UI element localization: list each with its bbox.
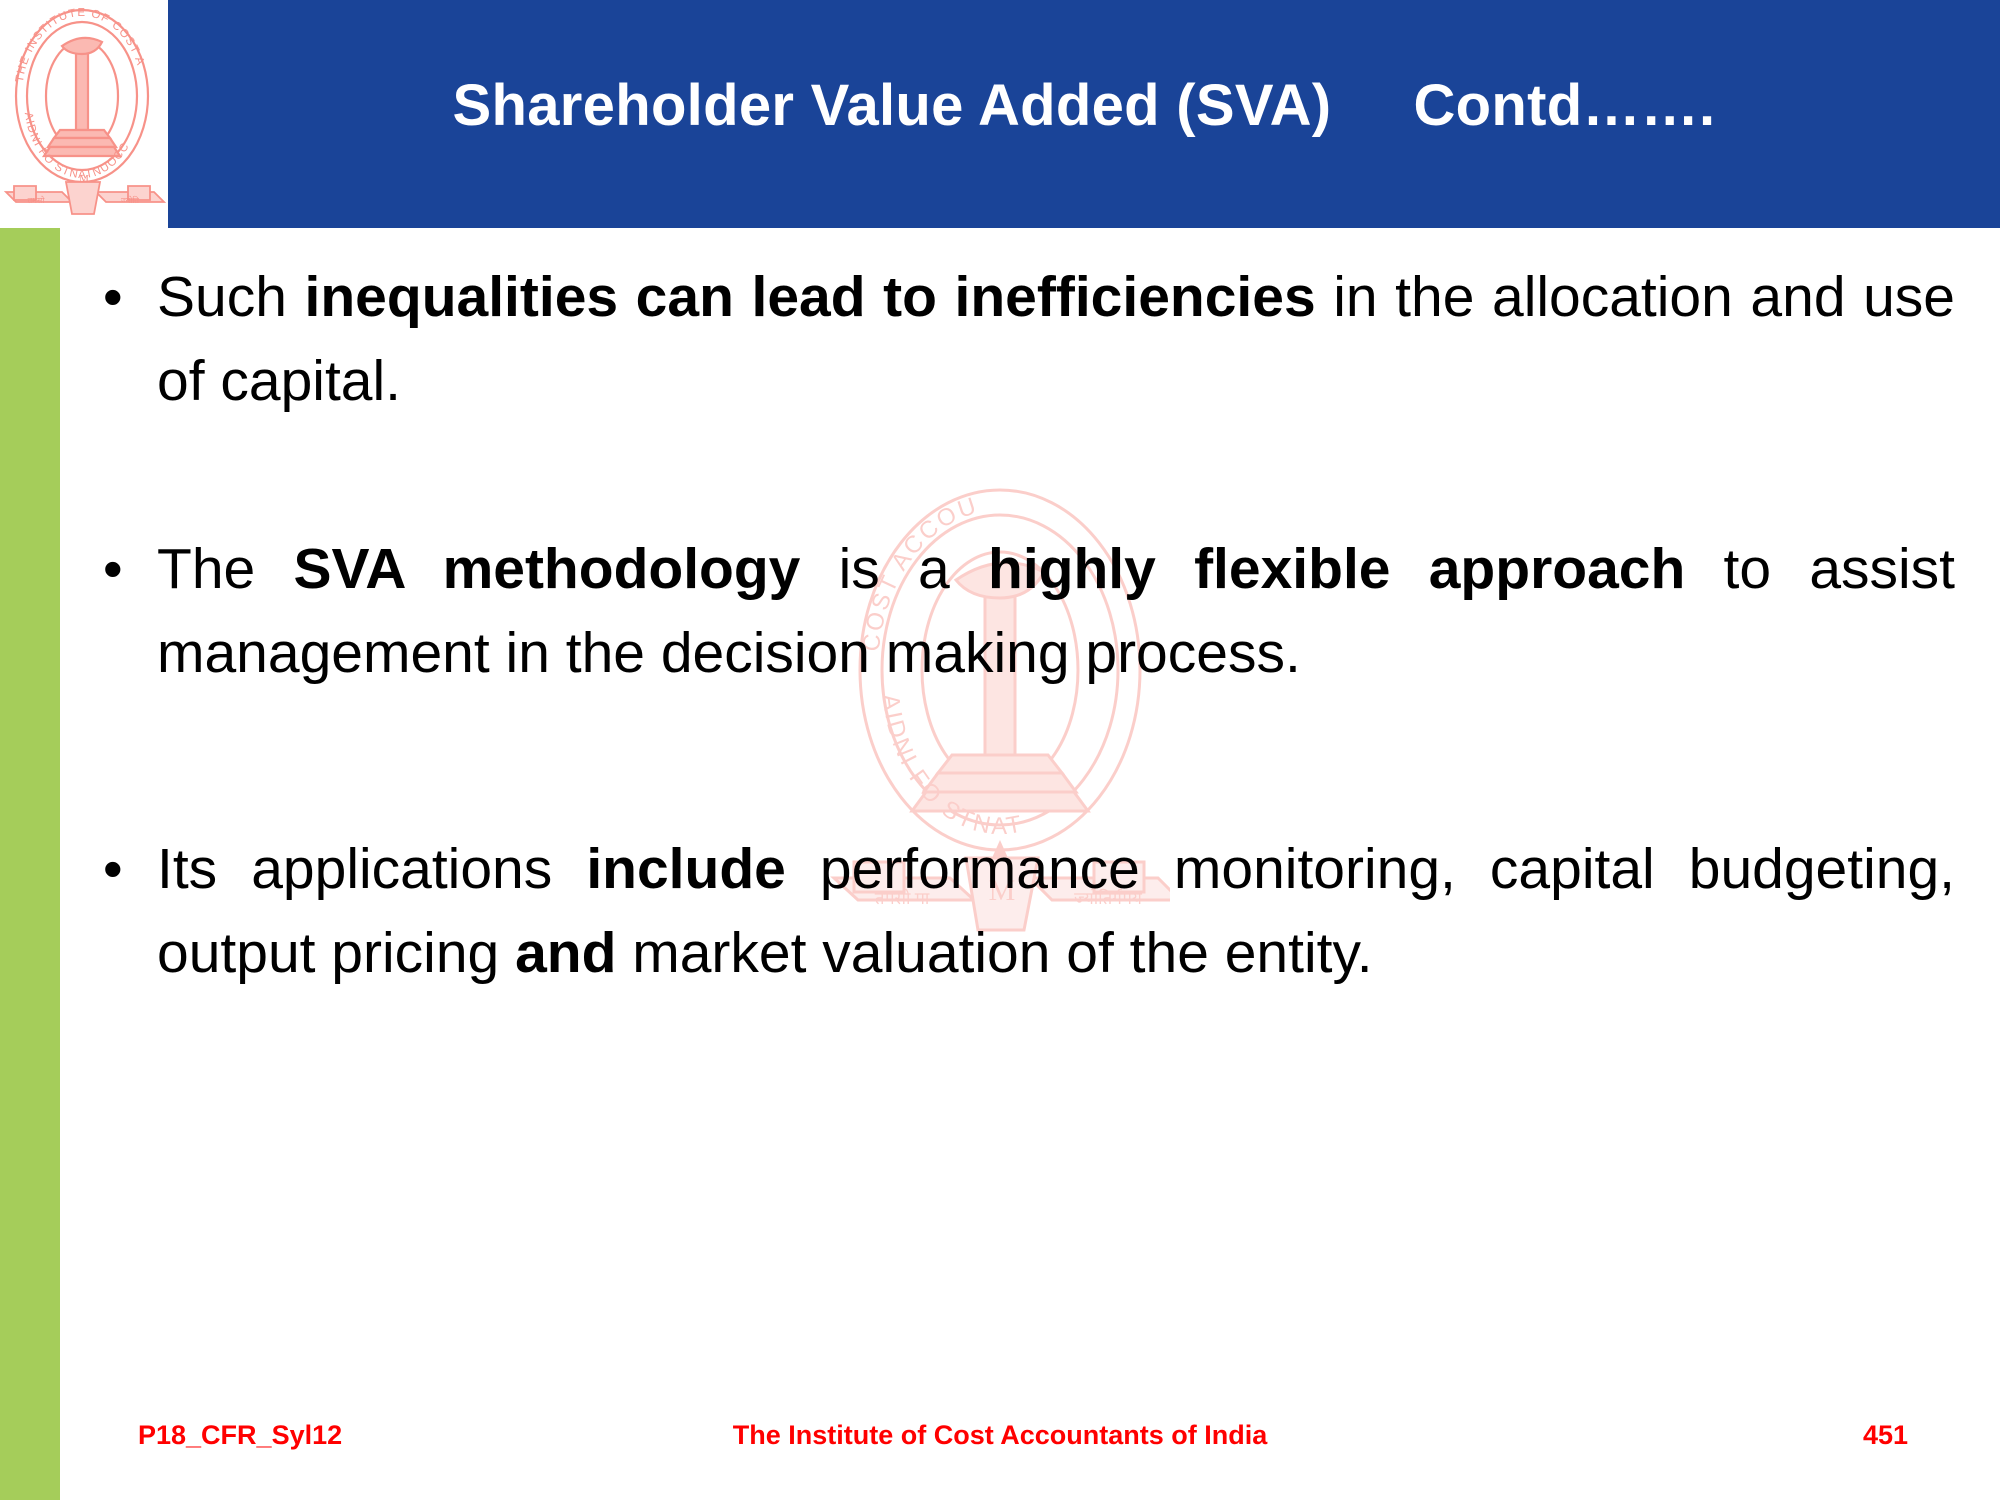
bullet-2-seg-2: is a <box>800 537 988 601</box>
footer-institute-name: The Institute of Cost Accountants of Ind… <box>0 1420 2000 1451</box>
bullet-marker-icon: • <box>95 827 157 911</box>
bullet-text-1: Such inequalities can lead to inefficien… <box>157 255 1955 423</box>
slide-content: • Such inequalities can lead to ineffici… <box>95 255 1955 1375</box>
bullet-3-seg-0: Its applications <box>157 837 586 901</box>
svg-text:तमसो: तमसो <box>28 195 46 205</box>
svg-text:ज्योति: ज्योति <box>121 195 139 205</box>
left-green-stripe <box>0 228 60 1500</box>
slide-footer: P18_CFR_Syl12 The Institute of Cost Acco… <box>0 1420 2000 1480</box>
slide-canvas: Shareholder Value Added (SVA) Contd……. <box>0 0 2000 1500</box>
bullet-marker-icon: • <box>95 527 157 611</box>
icai-logo: M तमसो ज्योति THE INSTITUTE OF COST A AI… <box>0 0 168 228</box>
bullet-2-seg-3: highly flexible approach <box>988 537 1685 601</box>
bullet-3-seg-4: market valuation of the entity. <box>616 921 1372 985</box>
bullet-1-seg-0: Such <box>157 265 305 329</box>
bullet-3-seg-1: include <box>586 837 786 901</box>
bullet-3-seg-3: and <box>515 921 616 985</box>
bullet-2-seg-1: SVA methodology <box>293 537 800 601</box>
bullet-text-2: The SVA methodology is a highly flexible… <box>157 527 1955 695</box>
bullet-text-3: Its applications include performance mon… <box>157 827 1955 995</box>
footer-page-number: 451 <box>1863 1420 1908 1451</box>
bullet-2-seg-0: The <box>157 537 293 601</box>
slide-title: Shareholder Value Added (SVA) Contd……. <box>168 0 2000 228</box>
bullet-item-1: • Such inequalities can lead to ineffici… <box>95 255 1955 423</box>
bullet-item-2: • The SVA methodology is a highly flexib… <box>95 527 1955 695</box>
bullet-item-3: • Its applications include performance m… <box>95 827 1955 995</box>
bullet-marker-icon: • <box>95 255 157 339</box>
bullet-1-seg-1: inequalities can lead to inefficiencies <box>305 265 1316 329</box>
